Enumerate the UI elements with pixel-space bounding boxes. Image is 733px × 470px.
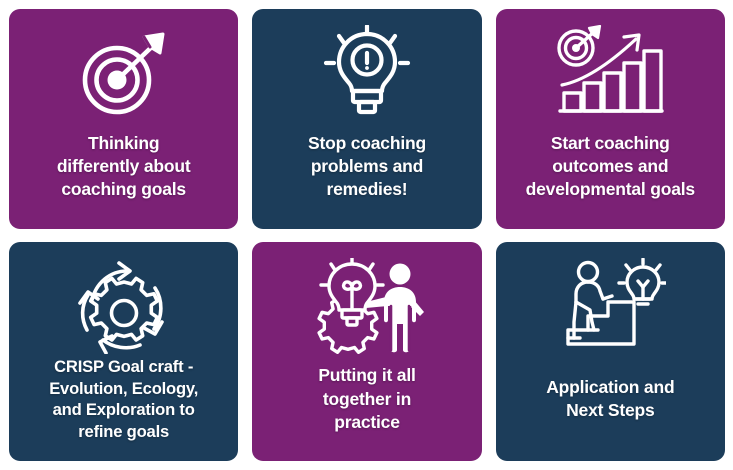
tile-thinking-differently[interactable]: Thinking differently about coaching goal… bbox=[9, 9, 238, 229]
target-arrow-icon bbox=[17, 25, 230, 121]
lightbulb-exclamation-icon bbox=[260, 25, 473, 121]
tile-label: Putting it all together in practice bbox=[312, 354, 421, 450]
tile-stop-coaching-problems[interactable]: Stop coaching problems and remedies! bbox=[252, 9, 481, 229]
tile-application-next-steps[interactable]: Application and Next Steps bbox=[496, 242, 725, 462]
tile-label: Stop coaching problems and remedies! bbox=[302, 121, 432, 217]
growth-chart-target-icon bbox=[504, 25, 717, 121]
tile-start-coaching-outcomes[interactable]: Start coaching outcomes and developmenta… bbox=[496, 9, 725, 229]
tile-label: Application and Next Steps bbox=[540, 354, 680, 450]
tile-label: Start coaching outcomes and developmenta… bbox=[520, 121, 701, 217]
tile-grid: Thinking differently about coaching goal… bbox=[0, 0, 733, 470]
tile-label: CRISP Goal craft - Evolution, Ecology, a… bbox=[43, 354, 204, 450]
tile-putting-it-together[interactable]: Putting it all together in practice bbox=[252, 242, 481, 462]
person-climbing-stairs-lightbulb-icon bbox=[504, 258, 717, 354]
tile-label: Thinking differently about coaching goal… bbox=[51, 121, 197, 217]
gear-cycle-arrows-icon bbox=[17, 258, 230, 354]
person-presenting-lightbulb-gear-icon bbox=[260, 258, 473, 354]
tile-crisp-goal-craft[interactable]: CRISP Goal craft - Evolution, Ecology, a… bbox=[9, 242, 238, 462]
